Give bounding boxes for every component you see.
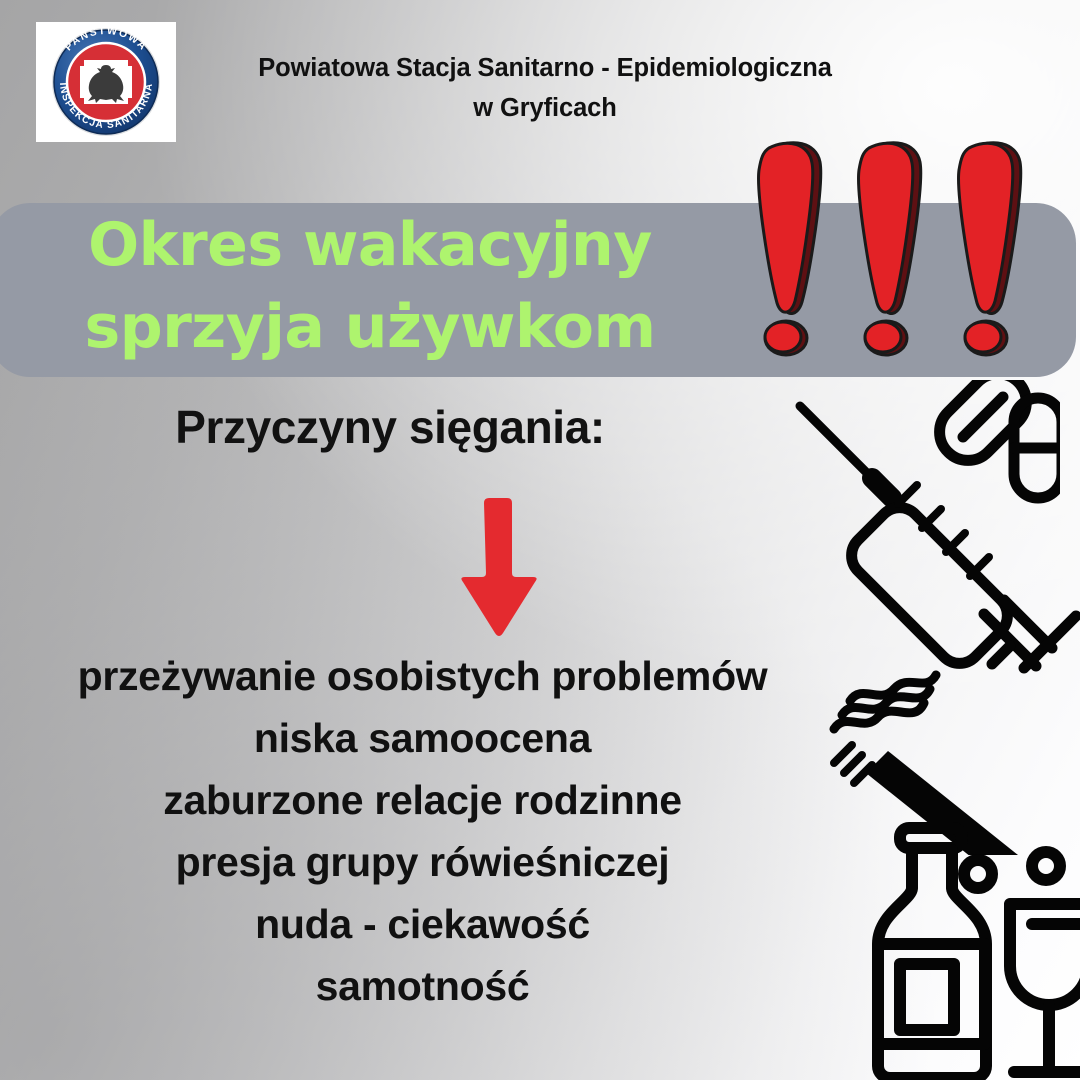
syringe-needle: [800, 406, 876, 482]
syringe-barrel: [852, 508, 1008, 664]
bubble-icon: [1032, 852, 1060, 880]
headline-line-1: Okres wakacyjny: [0, 204, 740, 286]
reasons-list: przeżywanie osobistych problemów niska s…: [0, 645, 845, 1017]
bottle-and-glass-icon: [846, 822, 1080, 1080]
panstwowa-inspekcja-sanitarna-logo-icon: PAŃSTWOWA INSPEKCJA SANITARNA: [36, 22, 176, 142]
headline-line-2: sprzyja używkom: [0, 286, 740, 368]
list-item: niska samoocena: [0, 707, 845, 769]
wine-glass-icon: [1010, 904, 1080, 1072]
capsule-pills-icon: [930, 380, 1060, 510]
sanitary-inspection-logo: PAŃSTWOWA INSPEKCJA SANITARNA: [36, 22, 176, 142]
arrow-down-icon: [449, 495, 547, 640]
smoke-icon: [834, 675, 936, 729]
list-item: samotność: [0, 955, 845, 1017]
bubble-icon: [964, 860, 992, 888]
list-item: przeżywanie osobistych problemów: [0, 645, 845, 707]
section-subheading: Przyczyny sięgania:: [60, 400, 720, 454]
poster-canvas: PAŃSTWOWA INSPEKCJA SANITARNA Powiatowa …: [0, 0, 1080, 1080]
exclamation-mark-1: [759, 143, 821, 355]
organization-title-line-1: Powiatowa Stacja Sanitarno - Epidemiolog…: [185, 48, 905, 88]
capsule-pill-2: [1014, 398, 1060, 498]
list-item: nuda - ciekawość: [0, 893, 845, 955]
exclamation-marks-group: [736, 132, 1056, 372]
list-item: zaburzone relacje rodzinne: [0, 769, 845, 831]
list-item: presja grupy rówieśniczej: [0, 831, 845, 893]
down-arrow: [449, 495, 547, 640]
alcohol-illustration: [846, 822, 1080, 1080]
exclamation-mark-2: [859, 143, 921, 355]
exclamation-mark-icon: [736, 132, 1056, 372]
organization-title-line-2: w Gryficach: [185, 88, 905, 128]
headline-text: Okres wakacyjny sprzyja używkom: [0, 204, 740, 368]
organization-title: Powiatowa Stacja Sanitarno - Epidemiolog…: [185, 48, 905, 128]
exclamation-mark-3: [959, 143, 1021, 355]
cigarette-filter: [834, 745, 872, 783]
